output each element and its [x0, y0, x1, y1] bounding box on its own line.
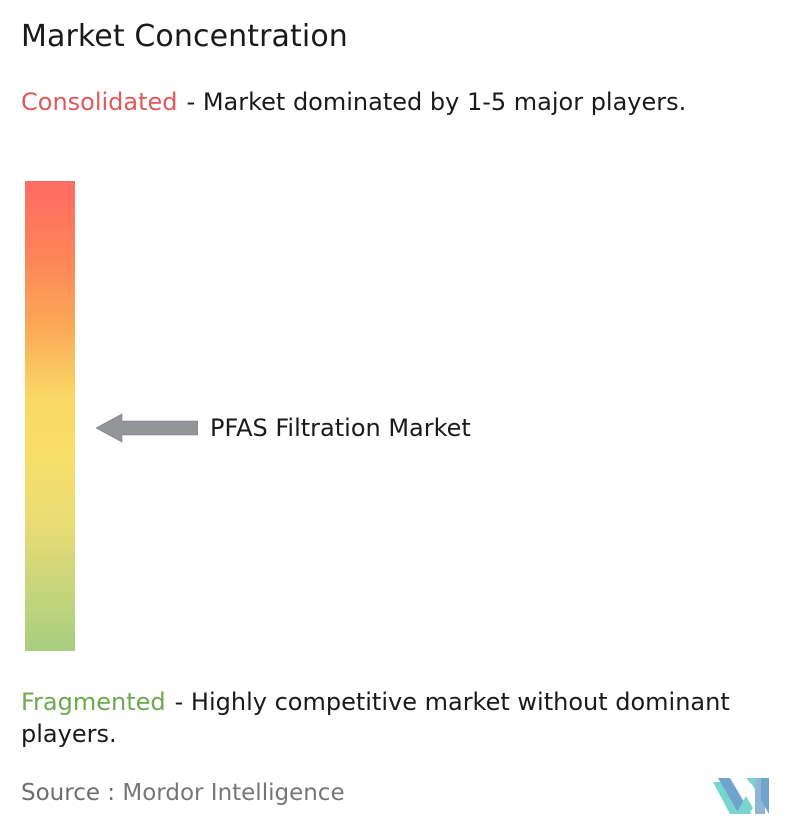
caption-consolidated: Consolidated- Market dominated by 1-5 ma…: [21, 86, 773, 118]
market-position-label: PFAS Filtration Market: [210, 412, 471, 444]
legend-description-consolidated: - Market dominated by 1-5 major players.: [187, 88, 687, 116]
market-position-annotation: PFAS Filtration Market: [96, 410, 471, 446]
footer: Source : Mordor Intelligence: [0, 778, 796, 822]
caption-fragmented: Fragmented- Highly competitive market wi…: [21, 686, 783, 750]
source-label: Source :: [21, 780, 115, 806]
left-arrow-icon: [96, 412, 198, 444]
legend-keyword-consolidated: Consolidated: [21, 88, 178, 116]
page-title: Market Concentration: [21, 19, 348, 55]
source-line: Source : Mordor Intelligence: [21, 778, 345, 808]
source-value: Mordor Intelligence: [122, 780, 344, 806]
legend-keyword-fragmented: Fragmented: [21, 688, 166, 716]
mordor-intelligence-logo: [713, 774, 775, 818]
chart-canvas: Market Concentration Consolidated- Marke…: [0, 0, 796, 834]
market-concentration-gradient-bar: [25, 181, 75, 651]
